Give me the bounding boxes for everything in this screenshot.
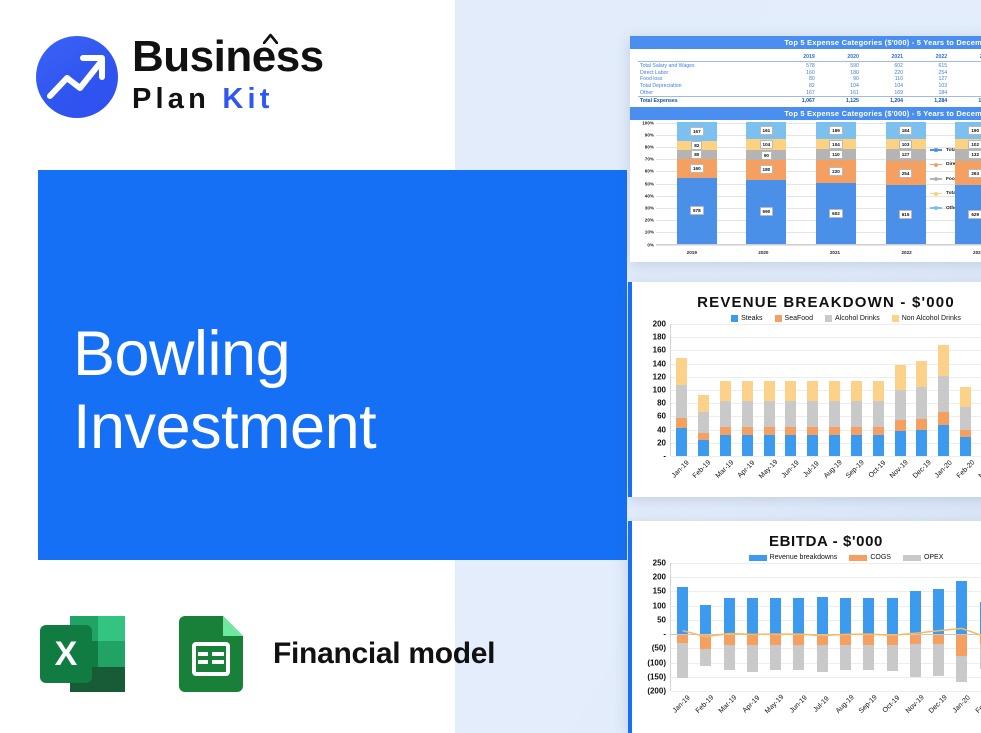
axis-tick: Sep-19: [845, 459, 866, 480]
stacked-bar-negative: [840, 634, 851, 670]
legend-item: OPEX: [903, 554, 943, 561]
stacked-bar: [829, 324, 840, 456]
expense-chart-banner: Top 5 Expense Categories ($'000) - 5 Yea…: [630, 107, 981, 120]
stacked-bar: [916, 324, 927, 456]
axis-tick: 60%: [645, 169, 654, 174]
stacked-bar: [676, 324, 687, 456]
stacked-bar-positive: [840, 598, 851, 634]
axis-tick: 70%: [645, 157, 654, 162]
axis-tick: 40%: [645, 193, 654, 198]
bar-value-label: 103: [899, 140, 913, 149]
axis-tick: Jan-19: [672, 694, 692, 714]
brand-name-line1: Business: [132, 34, 342, 80]
axis-tick: 2021: [815, 250, 855, 255]
bar-value-label: 82: [691, 141, 702, 150]
stacked-bar-positive: [887, 598, 898, 634]
stacked-bar-negative: [747, 634, 758, 672]
axis-tick: 40: [657, 425, 666, 434]
expense-stacked-chart: 100%90%80%70%60%50%40%30%20%10%0% 167828…: [630, 120, 981, 250]
legend-item: Alcohol Drinks: [825, 315, 880, 322]
ebitda-chart-title: EBITDA - $'000: [632, 521, 981, 552]
revenue-chart-area: [670, 324, 981, 456]
axis-tick: 50%: [645, 181, 654, 186]
legend-item: Steaks: [731, 315, 762, 322]
stacked-bar-positive: [933, 589, 944, 634]
axis-tick: 120: [653, 372, 666, 381]
bar-value-label: 102: [968, 140, 981, 149]
stacked-bar: [807, 324, 818, 456]
revenue-chart-plot: 20018016014012010080604020-: [632, 324, 981, 456]
axis-tick: 100%: [642, 120, 654, 125]
bar-value-label: 180: [760, 165, 774, 174]
stacked-bar: [698, 324, 709, 456]
ebitda-chart-legend: Revenue breakdownsCOGSOPEX: [632, 552, 981, 563]
axis-tick: Jul-19: [812, 695, 830, 713]
axis-tick: Feb-19: [695, 694, 716, 715]
axis-tick: 160: [653, 346, 666, 355]
page-title-line2: Investment: [73, 391, 593, 464]
axis-tick: 30%: [645, 206, 654, 211]
bar-value-label: 110: [829, 150, 842, 159]
bar-value-label: 190: [968, 126, 981, 135]
bar-value-label: 167: [690, 127, 704, 136]
axis-tick: 250: [653, 559, 666, 568]
ebitda-chart-y-axis: 25020015010050-(50)(100)(150)(200): [634, 563, 670, 691]
axis-tick: 50: [657, 615, 666, 624]
revenue-chart-title: REVENUE BREAKDOWN - $'000: [632, 282, 981, 313]
stacked-bar: 190102132263629: [955, 122, 981, 244]
axis-tick: 2022: [887, 250, 927, 255]
bar-value-label: 160: [690, 164, 704, 173]
bar-value-label: 263: [968, 169, 981, 178]
axis-tick: Apr-19: [742, 695, 762, 715]
stacked-bar: [960, 324, 971, 456]
axis-tick: 80: [657, 399, 666, 408]
revenue-chart-y-axis: 20018016014012010080604020-: [634, 324, 670, 456]
revenue-breakdown-card[interactable]: REVENUE BREAKDOWN - $'000 SteaksSeaFoodA…: [628, 282, 981, 497]
stacked-bar-negative: [793, 634, 804, 670]
trend-arrow-icon: [36, 36, 118, 118]
page-title: Bowling Investment: [73, 318, 593, 464]
ebitda-chart-plot: 25020015010050-(50)(100)(150)(200): [632, 563, 981, 691]
axis-tick: 200: [653, 573, 666, 582]
axis-tick: 100: [653, 601, 666, 610]
stacked-bar: 169104110220602: [816, 122, 856, 244]
axis-tick: Aug-19: [835, 694, 856, 715]
stacked-bar-negative: [956, 634, 967, 681]
stacked-bar-negative: [863, 634, 874, 670]
axis-tick: 0%: [647, 242, 654, 247]
legend-item: SeaFood: [775, 315, 813, 322]
axis-tick: 80%: [645, 145, 654, 150]
axis-tick: 60: [657, 412, 666, 421]
stacked-bar-positive: [863, 598, 874, 634]
axis-tick: 2019: [672, 250, 712, 255]
table-row: Total Salary and Wages578590602615629: [638, 62, 981, 69]
axis-tick: Jan-19: [671, 459, 691, 479]
format-badges: X Financial model: [40, 616, 495, 692]
bar-value-label: 104: [829, 140, 843, 149]
axis-tick: Nov-19: [889, 459, 910, 480]
bar-value-label: 80: [691, 150, 702, 159]
bar-value-label: 629: [968, 210, 981, 219]
axis-tick: Feb-20: [975, 694, 981, 715]
table-row: Other167161169184190: [638, 90, 981, 97]
stacked-bar-positive: [793, 598, 804, 634]
axis-tick: 180: [653, 333, 666, 342]
table-row: Direct Labor160180220254263: [638, 69, 981, 76]
bar-value-label: 615: [899, 210, 913, 219]
bar-value-label: 578: [690, 206, 704, 215]
stacked-bar-negative: [724, 634, 735, 670]
axis-tick: Aug-19: [823, 459, 844, 480]
axis-tick: Jun-19: [781, 459, 801, 479]
axis-tick: Jun-19: [788, 694, 808, 714]
axis-tick: 200: [653, 320, 666, 329]
axis-tick: Oct-19: [882, 695, 902, 715]
stacked-bar: [851, 324, 862, 456]
stacked-bar: [785, 324, 796, 456]
brand-name-text: Business: [132, 32, 324, 81]
axis-tick: (200): [647, 687, 666, 696]
bar-value-label: 90: [761, 151, 772, 160]
bar-value-label: 220: [829, 167, 843, 176]
legend-item: COGS: [849, 554, 891, 561]
axis-tick: (50): [652, 644, 666, 653]
expense-chart-x-axis: 20192020202120222023: [630, 250, 981, 255]
ebitda-card[interactable]: EBITDA - $'000 Revenue breakdownsCOGSOPE…: [628, 521, 981, 733]
axis-tick: 20%: [645, 218, 654, 223]
axis-tick: 20: [657, 438, 666, 447]
table-row: Total Depreciation82104104103102: [638, 83, 981, 90]
stacked-bar-negative: [933, 634, 944, 676]
table-row: Food loss8090110127132: [638, 76, 981, 83]
expense-chart-y-axis: 100%90%80%70%60%50%40%30%20%10%0%: [634, 123, 656, 250]
bar-value-label: 602: [829, 209, 843, 218]
stacked-bar: 16110490180590: [746, 122, 786, 244]
bar-value-label: 104: [760, 140, 774, 149]
axis-tick: 10%: [645, 230, 654, 235]
bar-value-label: 132: [968, 150, 981, 159]
stacked-bar: [938, 324, 949, 456]
axis-tick: Jan-20: [952, 694, 972, 714]
brand-logo: Business Plan Kit: [36, 34, 336, 120]
bar-value-label: 127: [899, 150, 913, 159]
axis-tick: Mar-19: [718, 694, 739, 715]
axis-tick: 90%: [645, 132, 654, 137]
axis-tick: May-19: [758, 459, 779, 480]
stacked-bar-negative: [770, 634, 781, 670]
stacked-bar-positive: [910, 591, 921, 635]
stacked-bar: 184103127254615: [886, 122, 926, 244]
axis-tick: Feb-20: [955, 459, 976, 480]
stacked-bar-positive: [747, 598, 758, 634]
format-badge-label: Financial model: [273, 637, 495, 671]
stacked-bar-positive: [677, 587, 688, 634]
bar-value-label: 254: [899, 169, 913, 178]
axis-tick: 2020: [743, 250, 783, 255]
axis-tick: Oct-19: [868, 460, 888, 480]
bar-value-label: 169: [829, 126, 843, 135]
stacked-bar-positive: [956, 581, 967, 634]
stacked-bar-negative: [887, 634, 898, 671]
axis-tick: (100): [647, 658, 666, 667]
bar-value-label: 184: [899, 126, 913, 135]
stacked-bar-negative: [817, 634, 828, 672]
revenue-chart-legend: SteaksSeaFoodAlcohol DrinksNon Alcohol D…: [632, 313, 981, 324]
axis-tick: 140: [653, 359, 666, 368]
stacked-bar: [873, 324, 884, 456]
axis-tick: -: [663, 452, 666, 461]
revenue-chart-x-axis: Jan-19Feb-19Mar-19Apr-19May-19Jun-19Jul-…: [632, 458, 981, 476]
legend-item: Revenue breakdowns: [749, 554, 838, 561]
page-title-line1: Bowling: [73, 318, 593, 391]
stacked-bar: [720, 324, 731, 456]
stacked-bar-positive: [724, 598, 735, 634]
stacked-bar-positive: [817, 597, 828, 634]
bar-value-label: 161: [760, 126, 774, 135]
stacked-bar-negative: [910, 634, 921, 677]
expense-table-banner: Top 5 Expense Categories ($'000) - 5 Yea…: [630, 36, 981, 49]
legend-item: Non Alcohol Drinks: [892, 315, 961, 322]
stacked-bar: 1678280160578: [677, 122, 717, 244]
svg-text:X: X: [55, 635, 78, 673]
axis-tick: Dec-19: [911, 459, 932, 480]
brand-plan-text: Plan: [132, 83, 210, 115]
stacked-bar-negative: [677, 634, 688, 678]
expense-categories-card[interactable]: Top 5 Expense Categories ($'000) - 5 Yea…: [630, 36, 981, 262]
axis-tick: (150): [647, 672, 666, 681]
axis-tick: Nov-19: [905, 694, 926, 715]
ebitda-chart-area: [670, 563, 981, 691]
axis-tick: Apr-19: [736, 460, 756, 480]
google-sheets-icon: [179, 616, 247, 692]
axis-tick: Mar-19: [714, 459, 735, 480]
stacked-bar: [895, 324, 906, 456]
axis-tick: Jul-19: [802, 460, 820, 478]
stacked-bar: [764, 324, 775, 456]
stacked-bar-negative: [700, 634, 711, 666]
axis-tick: Mar-20: [978, 459, 981, 480]
axis-tick: Feb-19: [692, 459, 713, 480]
bar-value-label: 590: [760, 207, 774, 216]
microsoft-excel-icon: X: [40, 616, 134, 692]
stacked-bar-positive: [770, 598, 781, 634]
circumflex-accent-icon: [263, 33, 278, 44]
brand-name-line2: Plan Kit: [132, 82, 342, 116]
axis-tick: 2023: [958, 250, 981, 255]
brand-kit-text: Kit: [222, 83, 273, 115]
axis-tick: Jan-20: [934, 459, 954, 479]
axis-tick: Dec-19: [928, 694, 949, 715]
stacked-bar: [742, 324, 753, 456]
ebitda-chart-x-axis: Jan-19Feb-19Mar-19Apr-19May-19Jun-19Jul-…: [632, 693, 981, 711]
axis-tick: 150: [653, 587, 666, 596]
axis-tick: May-19: [764, 694, 785, 715]
axis-tick: -: [663, 630, 666, 639]
axis-tick: 100: [653, 386, 666, 395]
expense-table: 20192020202120222023TTotal Salary and Wa…: [630, 49, 981, 107]
stacked-bar-positive: [700, 605, 711, 634]
axis-tick: Sep-19: [858, 694, 879, 715]
